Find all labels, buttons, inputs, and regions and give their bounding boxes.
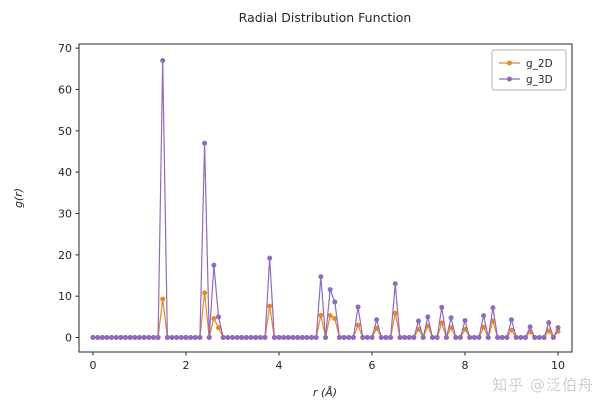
y-tick-label: 10 [58,290,72,303]
data-point-marker [537,335,542,340]
y-tick-label: 50 [58,125,72,138]
data-point-marker [467,335,472,340]
data-point-marker [323,335,328,340]
data-point-marker [393,281,398,286]
x-tick-label: 2 [182,359,189,372]
data-point-marker [351,335,356,340]
data-point-marker [114,335,119,340]
watermark-text: 知乎 @泛伯舟 [492,374,594,395]
data-point-marker [495,335,500,340]
data-point-marker [295,335,300,340]
data-point-marker [449,315,454,320]
data-point-marker [490,305,495,310]
data-point-marker [249,335,254,340]
data-point-marker [365,335,370,340]
data-point-marker [151,335,156,340]
data-point-marker [411,335,416,340]
data-point-marker [337,335,342,340]
legend-marker-g_2D [507,61,512,66]
radial-distribution-chart: Radial Distribution Function 01020304050… [0,0,600,409]
data-point-marker [100,335,105,340]
data-point-marker [346,335,351,340]
data-point-marker [179,335,184,340]
data-point-marker [137,335,142,340]
data-point-marker [458,335,463,340]
y-tick-label: 60 [58,83,72,96]
data-point-marker [225,335,230,340]
data-point-marker [230,335,235,340]
data-point-marker [272,335,277,340]
data-point-marker [556,325,561,330]
data-point-marker [514,335,519,340]
data-point-marker [421,335,426,340]
data-point-marker [370,335,375,340]
y-axis-ticks: 010203040506070 [58,42,79,344]
data-point-marker [463,318,468,323]
data-point-marker [90,335,95,340]
data-point-marker [309,335,314,340]
x-tick-label: 0 [89,359,96,372]
data-point-marker [281,335,286,340]
data-point-marker [439,305,444,310]
data-point-marker [444,335,449,340]
y-tick-label: 20 [58,249,72,262]
data-point-marker [481,313,486,318]
x-tick-label: 4 [275,359,282,372]
data-point-marker [258,335,263,340]
data-point-marker [165,335,170,340]
y-tick-label: 0 [65,332,72,345]
x-tick-label: 8 [462,359,469,372]
y-axis-label: g(r) [12,188,25,208]
data-point-marker [374,317,379,322]
data-point-marker [486,335,491,340]
y-tick-label: 30 [58,208,72,221]
data-point-marker [207,335,212,340]
data-point-marker [318,313,323,318]
data-point-marker [383,335,388,340]
data-point-marker [118,335,123,340]
data-point-marker [128,335,133,340]
data-point-marker [397,335,402,340]
figure-canvas: Radial Distribution Function 01020304050… [0,0,600,409]
data-point-marker [132,335,137,340]
data-point-marker [356,323,361,328]
data-point-marker [239,335,244,340]
data-point-marker [476,335,481,340]
data-point-marker [267,304,272,309]
data-point-marker [267,256,272,261]
data-point-marker [156,335,161,340]
data-point-marker [146,335,151,340]
data-point-marker [328,287,333,292]
data-point-marker [197,335,202,340]
data-point-marker [221,335,226,340]
data-point-marker [388,335,393,340]
data-point-marker [160,297,165,302]
data-point-marker [174,335,179,340]
data-point-marker [160,58,165,63]
data-point-marker [235,335,240,340]
data-point-marker [528,324,533,329]
data-point-marker [95,335,100,340]
data-point-marker [290,335,295,340]
data-point-marker [314,335,319,340]
data-point-marker [425,314,430,319]
data-point-marker [263,335,268,340]
data-point-marker [188,335,193,340]
data-point-marker [379,335,384,340]
data-point-marker [518,335,523,340]
legend-marker-g_3D [507,77,512,82]
data-point-marker [142,335,147,340]
data-point-marker [500,335,505,340]
data-point-marker [300,335,305,340]
legend-label-g_2D[interactable]: g_2D [526,58,553,70]
legend-label-g_3D[interactable]: g_3D [526,74,553,86]
data-point-marker [193,335,198,340]
data-point-marker [542,335,547,340]
data-point-marker [416,318,421,323]
data-point-marker [253,335,258,340]
chart-title: Radial Distribution Function [239,10,412,25]
data-point-marker [360,335,365,340]
data-point-marker [356,304,361,309]
data-point-marker [523,335,528,340]
data-point-marker [472,335,477,340]
data-point-marker [532,335,537,340]
data-point-marker [211,316,216,321]
data-point-marker [216,314,221,319]
x-axis-label: r (Å) [313,386,337,399]
data-point-marker [430,335,435,340]
data-point-marker [328,313,333,318]
data-point-marker [551,335,556,340]
data-point-marker [109,335,114,340]
y-tick-label: 70 [58,42,72,55]
data-point-marker [407,335,412,340]
data-point-marker [123,335,128,340]
data-point-marker [393,311,398,316]
y-tick-label: 40 [58,166,72,179]
data-point-marker [342,335,347,340]
data-point-marker [211,263,216,268]
x-axis-ticks: 0246810 [89,352,565,372]
data-point-marker [202,141,207,146]
data-point-marker [318,274,323,279]
data-point-marker [244,335,249,340]
data-point-marker [546,320,551,325]
data-point-marker [402,335,407,340]
data-point-marker [286,335,291,340]
data-point-marker [183,335,188,340]
data-point-marker [202,290,207,295]
data-point-marker [304,335,309,340]
data-point-marker [332,299,337,304]
data-point-marker [276,335,281,340]
data-point-marker [504,335,509,340]
data-point-marker [453,335,458,340]
data-point-marker [435,335,440,340]
data-point-marker [170,335,175,340]
data-point-marker [509,317,514,322]
chart-legend[interactable]: g_2Dg_3D [492,50,566,90]
x-tick-label: 10 [551,359,565,372]
data-point-marker [104,335,109,340]
x-tick-label: 6 [369,359,376,372]
